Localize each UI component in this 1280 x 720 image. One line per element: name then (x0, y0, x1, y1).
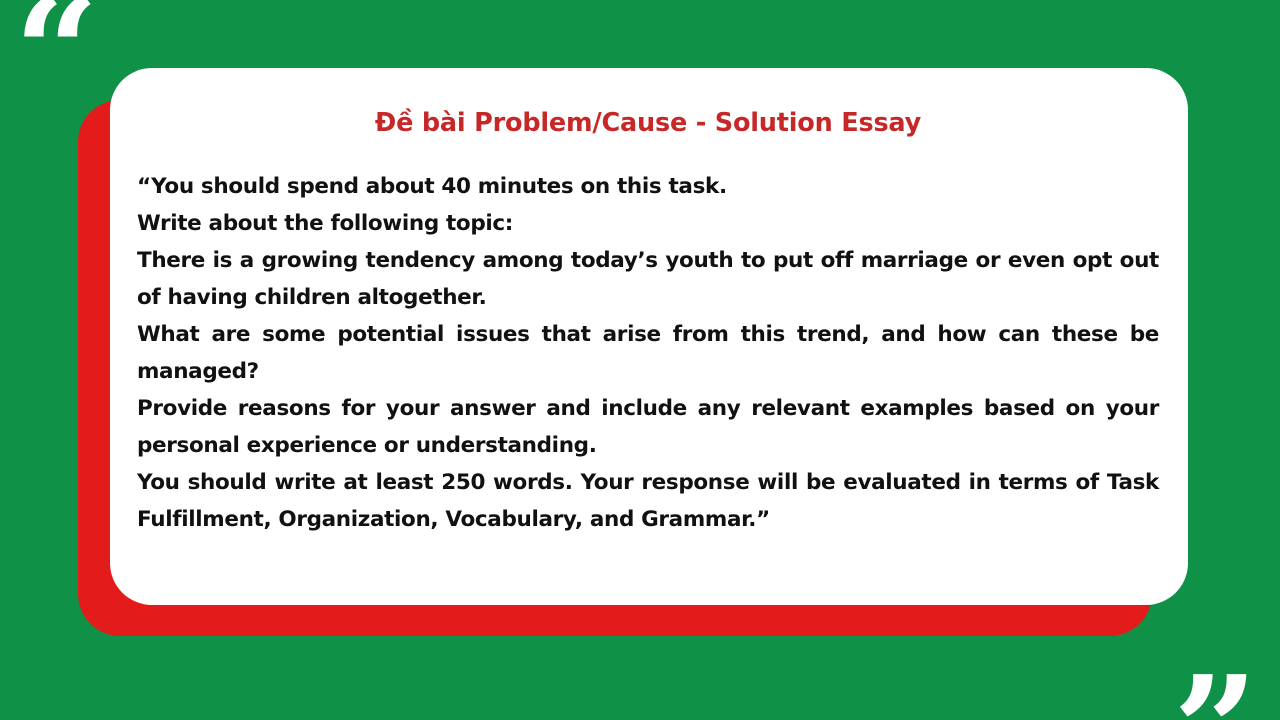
closing-quote-icon: ” (1173, 656, 1258, 720)
essay-prompt-body: “You should spend about 40 minutes on th… (137, 140, 1159, 538)
prompt-line: Write about the following topic: (137, 205, 1159, 242)
prompt-line: There is a growing tendency among today’… (137, 242, 1159, 316)
essay-title: Đề bài Problem/Cause - Solution Essay (137, 108, 1159, 140)
prompt-line: “You should spend about 40 minutes on th… (137, 168, 1159, 205)
prompt-line: You should write at least 250 words. You… (137, 464, 1159, 538)
card-content: Đề bài Problem/Cause - Solution Essay “Y… (137, 68, 1159, 605)
prompt-line: Provide reasons for your answer and incl… (137, 390, 1159, 464)
prompt-line: What are some potential issues that aris… (137, 316, 1159, 390)
slide-canvas: “ Đề bài Problem/Cause - Solution Essay … (0, 0, 1280, 720)
